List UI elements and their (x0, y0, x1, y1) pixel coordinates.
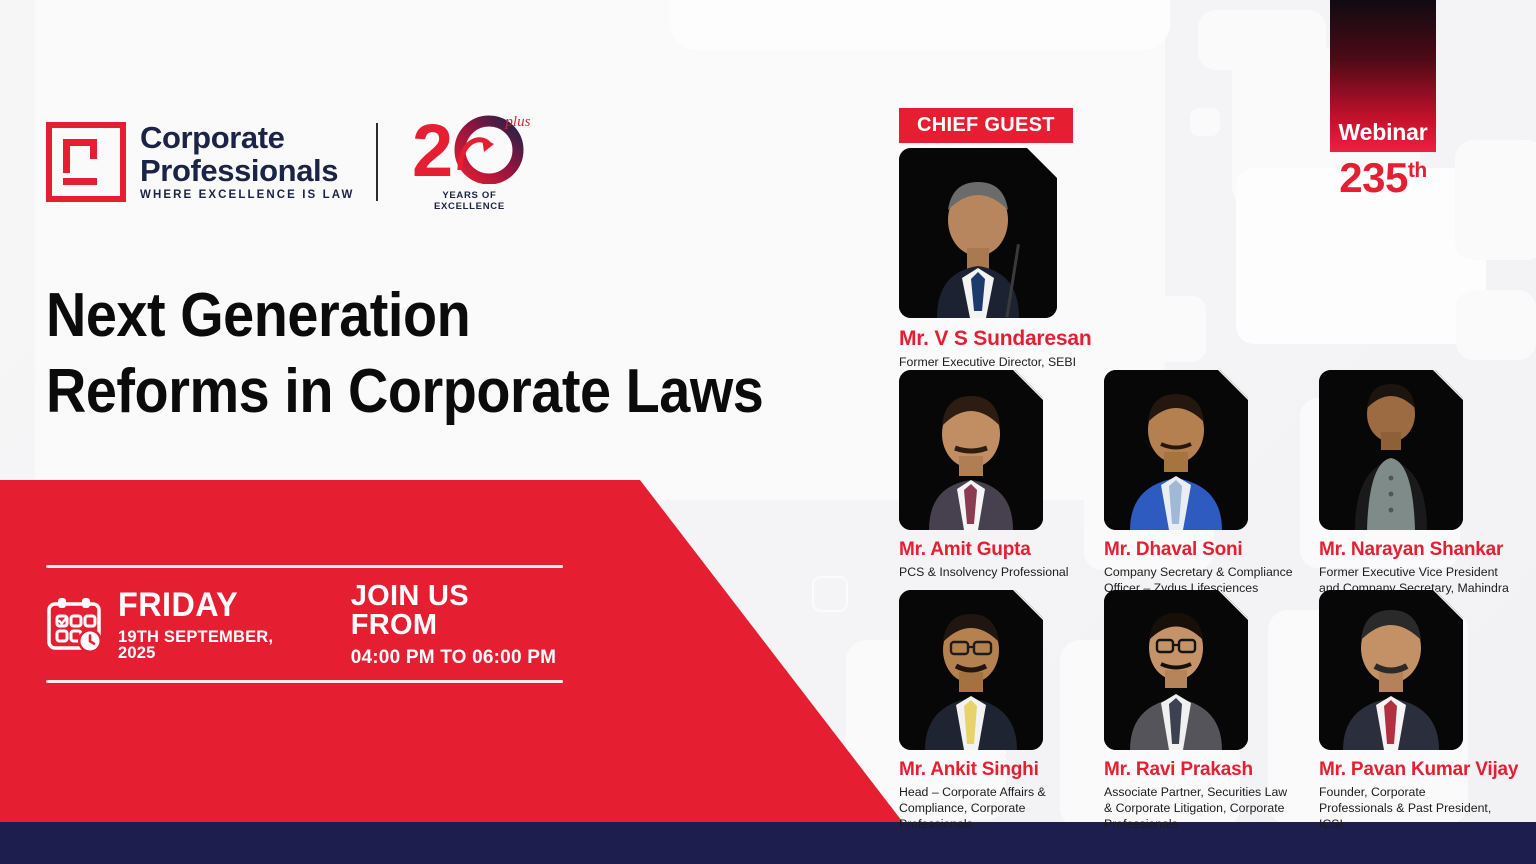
anniversary-badge: plus 2 YEARS OF EXCELLENCE (406, 112, 532, 212)
webinar-label: Webinar (1339, 121, 1428, 144)
speaker-role: PCS & Insolvency Professional (899, 564, 1075, 580)
speaker-photo (899, 370, 1043, 530)
brand-logo: Corporate Professionals WHERE EXCELLENCE… (46, 112, 532, 212)
speaker-name: Mr. Narayan Shankar (1319, 539, 1509, 561)
event-day-of-week: FRIDAY (118, 588, 305, 622)
webinar-badge-gradient: Webinar (1330, 0, 1436, 152)
webinar-number: 235th (1330, 157, 1436, 199)
speaker-card-6: Mr. Pavan Kumar Vijay Founder, Corporate… (1319, 590, 1518, 833)
speaker-card-5: Mr. Ravi Prakash Associate Partner, Secu… (1104, 590, 1294, 833)
background-shape-8 (1146, 296, 1206, 362)
logo-line-1: Corporate (140, 122, 354, 153)
speaker-photo (899, 590, 1043, 750)
speaker-photo (899, 148, 1057, 318)
anniversary-caption: YEARS OF EXCELLENCE (406, 190, 532, 212)
speaker-name: Mr. Amit Gupta (899, 539, 1075, 561)
speaker-card-2: Mr. Dhaval Soni Company Secretary & Comp… (1104, 370, 1294, 613)
speaker-portrait-0 (899, 148, 1057, 318)
logo-wordmark: Corporate Professionals WHERE EXCELLENCE… (140, 122, 354, 202)
page-title: Next Generation Reforms in Corporate Law… (46, 278, 793, 429)
speaker-portrait-3 (1319, 370, 1463, 530)
speaker-name: Mr. Ankit Singhi (899, 759, 1075, 781)
webinar-banner: Corporate Professionals WHERE EXCELLENCE… (0, 0, 1536, 864)
speaker-portrait-4 (899, 590, 1043, 750)
background-shape-6 (1455, 140, 1536, 260)
speaker-card-3: Mr. Narayan Shankar Former Executive Vic… (1319, 370, 1509, 613)
speaker-photo (1104, 590, 1248, 750)
speaker-card-1: Mr. Amit Gupta PCS & Insolvency Professi… (899, 370, 1075, 580)
speaker-photo (1104, 370, 1248, 530)
speaker-name: Mr. V S Sundaresan (899, 327, 1091, 351)
webinar-number-value: 235 (1339, 154, 1408, 201)
event-datetime-strip: FRIDAY 19TH SEPTEMBER, 2025 JOIN US FROM… (46, 565, 563, 683)
event-date-block: FRIDAY 19TH SEPTEMBER, 2025 (118, 588, 315, 662)
logo-divider (376, 123, 378, 201)
speaker-role: Founder, Corporate Professionals & Past … (1319, 784, 1495, 833)
background-shape-3 (1198, 10, 1326, 70)
speaker-card-chief: Mr. V S Sundaresan Former Executive Dire… (899, 148, 1091, 370)
speaker-portrait-1 (899, 370, 1043, 530)
anniversary-plus-label: plus (505, 114, 530, 131)
webinar-number-badge: Webinar 235th (1330, 0, 1436, 199)
speaker-role: Associate Partner, Securities Law & Corp… (1104, 784, 1294, 833)
headline-line-2: Reforms in Corporate Laws (46, 354, 793, 430)
background-shape-1 (670, 0, 1170, 50)
webinar-number-ordinal: th (1408, 159, 1427, 182)
headline-line-1: Next Generation (46, 278, 793, 354)
logo-line-2: Professionals (140, 155, 354, 186)
event-date: 19TH SEPTEMBER, 2025 (118, 629, 315, 662)
calendar-clock-icon (46, 596, 108, 654)
speaker-photo (1319, 590, 1463, 750)
event-time-range: 04:00 PM TO 06:00 PM (351, 648, 563, 667)
speaker-portrait-6 (1319, 590, 1463, 750)
logo-tagline: WHERE EXCELLENCE IS LAW (140, 190, 354, 202)
speaker-portrait-5 (1104, 590, 1248, 750)
speaker-photo (1319, 370, 1463, 530)
speaker-name: Mr. Pavan Kumar Vijay (1319, 759, 1518, 781)
speaker-name: Mr. Dhaval Soni (1104, 539, 1294, 561)
speaker-portrait-2 (1104, 370, 1248, 530)
event-time-block: JOIN US FROM 04:00 PM TO 06:00 PM (351, 582, 563, 667)
join-us-label: JOIN US FROM (351, 582, 563, 640)
speaker-role: Head – Corporate Affairs & Compliance, C… (899, 784, 1075, 833)
svg-text:2: 2 (412, 112, 453, 184)
logo-mark-icon (46, 122, 126, 202)
background-shape-outline-1 (812, 576, 848, 612)
bottom-navy-bar (0, 822, 1536, 864)
speaker-role: Former Executive Director, SEBI (899, 354, 1089, 370)
speaker-name: Mr. Ravi Prakash (1104, 759, 1294, 781)
speaker-card-4: Mr. Ankit Singhi Head – Corporate Affair… (899, 590, 1075, 833)
strip-rule-bottom (46, 680, 563, 683)
chief-guest-badge: CHIEF GUEST (899, 108, 1073, 143)
background-shape-7 (1456, 290, 1536, 360)
background-shape-5 (1190, 108, 1220, 136)
